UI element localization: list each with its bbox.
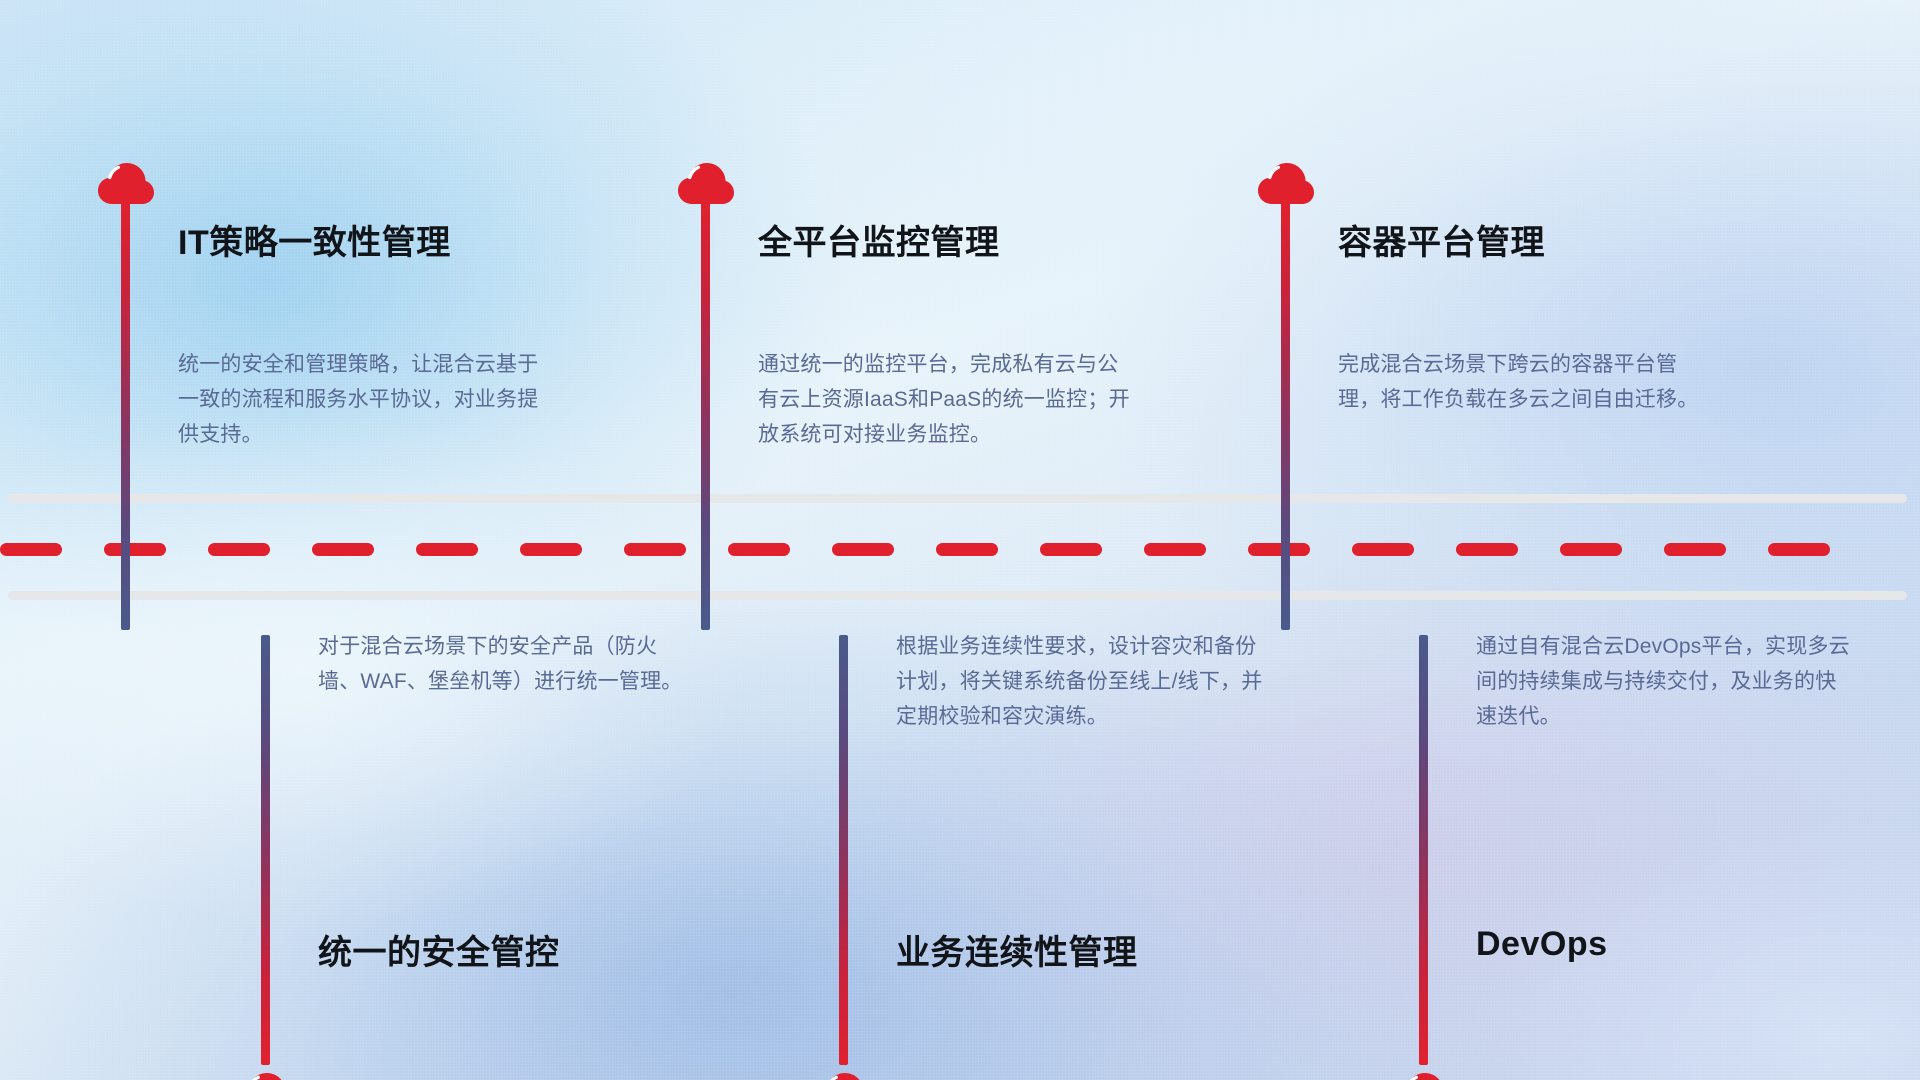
road-dash-segment xyxy=(832,543,894,556)
road-line-bottom xyxy=(8,591,1907,600)
road-dash-segment xyxy=(1560,543,1622,556)
cloud-icon xyxy=(1394,1070,1454,1080)
road-dashed-center-line xyxy=(0,542,1920,556)
card-title: 全平台监控管理 xyxy=(758,215,1000,264)
card-title: 业务连续性管理 xyxy=(896,925,1138,974)
connector-stem xyxy=(701,200,710,630)
card-body: 根据业务连续性要求，设计容灾和备份计划，将关键系统备份至线上/线下，并定期校验和… xyxy=(896,630,1276,735)
road-dash-segment xyxy=(0,543,62,556)
cloud-icon xyxy=(236,1070,296,1080)
background-blob-bottom-right xyxy=(0,0,1920,1080)
road-dash-segment xyxy=(624,543,686,556)
road-dash-segment xyxy=(416,543,478,556)
road-dash-segment xyxy=(1768,543,1830,556)
connector-stem xyxy=(261,635,270,1065)
connector-stem xyxy=(121,200,130,630)
road-line-top xyxy=(8,494,1907,503)
road-dash-segment xyxy=(520,543,582,556)
background-blob-mid-left xyxy=(0,0,1920,1080)
connector-stem xyxy=(1281,200,1290,630)
background-blob-bottom-left xyxy=(0,0,1920,1080)
background-blob-corner xyxy=(0,0,1920,1080)
road-dash-segment xyxy=(1664,543,1726,556)
background-blob-top xyxy=(0,0,1920,1080)
connector-stem xyxy=(1419,635,1428,1065)
connector-stem xyxy=(839,635,848,1065)
card-body: 通过统一的监控平台，完成私有云与公有云上资源IaaS和PaaS的统一监控；开放系… xyxy=(758,348,1138,453)
road-dash-segment xyxy=(728,543,790,556)
background-blob-right xyxy=(0,0,1920,1080)
road-dash-segment xyxy=(1144,543,1206,556)
infographic-canvas: IT策略一致性管理 统一的安全和管理策略，让混合云基于一致的流程和服务水平协议，… xyxy=(0,0,1920,1080)
background-blob-left xyxy=(0,0,1920,1080)
road-dash-segment xyxy=(1352,543,1414,556)
card-title: DevOps xyxy=(1476,925,1608,964)
background-texture xyxy=(0,0,1920,1080)
cloud-icon xyxy=(814,1070,874,1080)
road-dash-segment xyxy=(104,543,166,556)
road-dash-segment xyxy=(1456,543,1518,556)
road-dash-segment xyxy=(312,543,374,556)
card-body: 通过自有混合云DevOps平台，实现多云间的持续集成与持续交付，及业务的快速迭代… xyxy=(1476,630,1856,735)
card-title: IT策略一致性管理 xyxy=(178,215,451,264)
card-body: 统一的安全和管理策略，让混合云基于一致的流程和服务水平协议，对业务提供支持。 xyxy=(178,348,558,453)
background-gradient xyxy=(0,0,1920,1080)
card-title: 容器平台管理 xyxy=(1338,215,1545,264)
road-dash-segment xyxy=(208,543,270,556)
road-dash-segment xyxy=(936,543,998,556)
card-body: 完成混合云场景下跨云的容器平台管理，将工作负载在多云之间自由迁移。 xyxy=(1338,348,1718,418)
road-dash-segment xyxy=(1040,543,1102,556)
card-body: 对于混合云场景下的安全产品（防火墙、WAF、堡垒机等）进行统一管理。 xyxy=(318,630,698,700)
card-title: 统一的安全管控 xyxy=(318,925,560,974)
road-dash-segment xyxy=(1248,543,1310,556)
